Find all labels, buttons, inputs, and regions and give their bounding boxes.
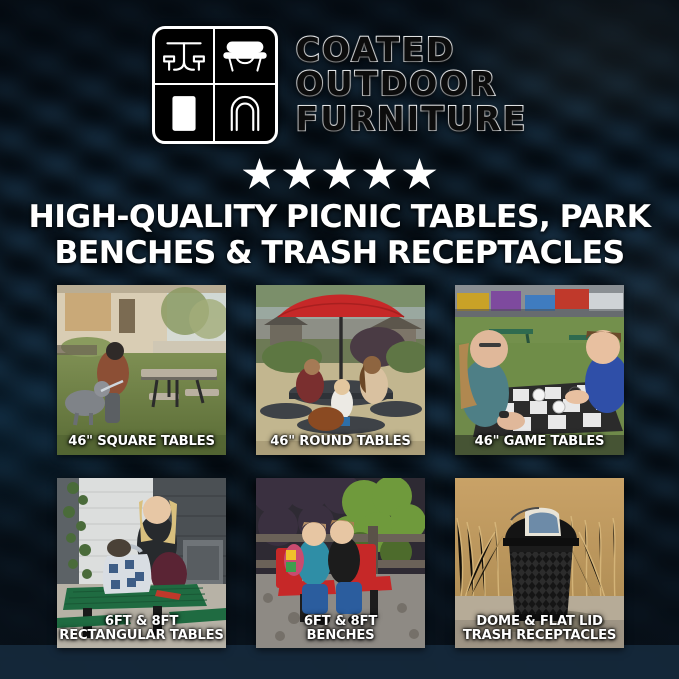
bike-rack-icon <box>215 85 275 141</box>
brand-word-coated: COATED <box>296 33 456 67</box>
picnic-table-icon <box>155 29 215 85</box>
trash-receptacle-icon <box>155 85 215 141</box>
product-caption-square-tables: 46" SQUARE TABLES <box>59 435 224 449</box>
product-caption-game-tables: 46" GAME TABLES <box>457 435 622 449</box>
caption-line-1: 46" GAME TABLES <box>457 435 622 449</box>
brand-word-outdoor: OUTDOOR <box>296 67 498 101</box>
page-title: HIGH-QUALITY PICNIC TABLES, PARK BENCHES… <box>28 200 651 271</box>
brand-logo: COATED OUTDOOR FURNITURE <box>0 26 679 144</box>
caption-line-2: RECTANGULAR TABLES <box>59 629 224 643</box>
product-tile-round-tables[interactable]: 46" ROUND TABLES <box>256 285 425 455</box>
product-caption-trash-receptacles: DOME & FLAT LID TRASH RECEPTACLES <box>457 615 622 644</box>
product-photo-game-tables <box>455 285 624 455</box>
star-icon <box>243 158 277 191</box>
product-tile-square-tables[interactable]: 46" SQUARE TABLES <box>57 285 226 455</box>
product-tile-benches[interactable]: 6FT & 8FT BENCHES <box>256 478 425 648</box>
star-icon <box>323 158 357 191</box>
park-bench-icon <box>215 29 275 85</box>
star-rating <box>0 158 679 191</box>
product-photo-round-tables <box>256 285 425 455</box>
promo-banner: COATED OUTDOOR FURNITURE HIGH-QUALITY PI… <box>0 0 679 679</box>
caption-line-1: 46" ROUND TABLES <box>258 435 423 449</box>
headline-line-1: HIGH-QUALITY PICNIC TABLES, PARK <box>28 200 651 236</box>
product-photo-square-tables <box>57 285 226 455</box>
caption-line-1: 6FT & 8FT <box>258 615 423 629</box>
caption-line-2: BENCHES <box>258 629 423 643</box>
caption-line-1: 6FT & 8FT <box>59 615 224 629</box>
product-caption-round-tables: 46" ROUND TABLES <box>258 435 423 449</box>
caption-line-1: DOME & FLAT LID <box>457 615 622 629</box>
caption-line-2: TRASH RECEPTACLES <box>457 629 622 643</box>
caption-line-1: 46" SQUARE TABLES <box>59 435 224 449</box>
product-tile-rectangular-tables[interactable]: 6FT & 8FT RECTANGULAR TABLES <box>57 478 226 648</box>
brand-word-furniture: FURNITURE <box>296 102 528 136</box>
headline-line-2: BENCHES & TRASH RECEPTACLES <box>28 236 651 272</box>
logo-icon-grid <box>152 26 278 144</box>
star-icon <box>403 158 437 191</box>
star-icon <box>363 158 397 191</box>
product-tile-game-tables[interactable]: 46" GAME TABLES <box>455 285 624 455</box>
product-caption-benches: 6FT & 8FT BENCHES <box>258 615 423 644</box>
star-icon <box>283 158 317 191</box>
product-tile-trash-receptacles[interactable]: DOME & FLAT LID TRASH RECEPTACLES <box>455 478 624 648</box>
brand-wordmark: COATED OUTDOOR FURNITURE <box>296 33 528 138</box>
product-caption-rectangular-tables: 6FT & 8FT RECTANGULAR TABLES <box>59 615 224 644</box>
product-grid: 46" SQUARE TABLES <box>57 285 623 648</box>
